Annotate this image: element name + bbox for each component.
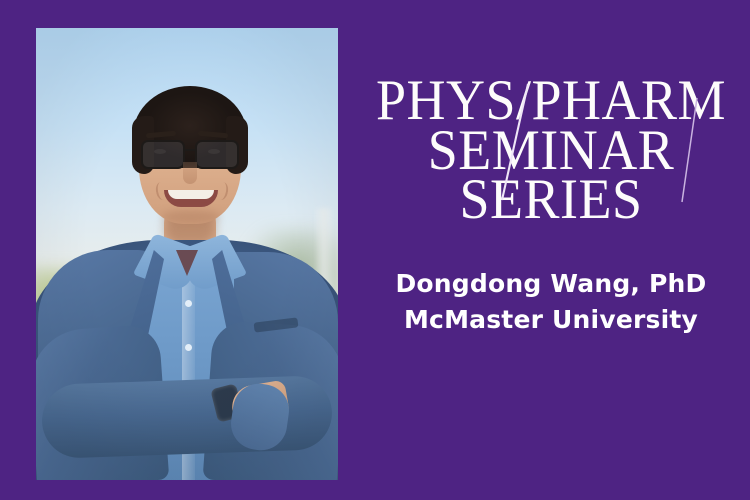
- crossed-forearms: [41, 375, 333, 459]
- person-figure: [36, 28, 338, 480]
- eyeglass-lens-right: [195, 140, 239, 169]
- shirt-button: [185, 344, 192, 351]
- speaker-name: Dongdong Wang, PhD: [352, 266, 750, 302]
- title-line-3: SERIES: [352, 174, 750, 227]
- seminar-poster: PHYS/PHARM SEMINAR SERIES Dongdong Wang,…: [0, 0, 750, 500]
- nose: [183, 162, 197, 184]
- shirt-button: [185, 300, 192, 307]
- text-panel: PHYS/PHARM SEMINAR SERIES Dongdong Wang,…: [352, 0, 750, 500]
- seminar-title: PHYS/PHARM SEMINAR SERIES: [352, 76, 750, 225]
- eyeglass-lens-left: [141, 140, 185, 169]
- speaker-info: Dongdong Wang, PhD McMaster University: [352, 266, 750, 337]
- speaker-photo: [36, 28, 338, 480]
- speaker-affiliation: McMaster University: [352, 302, 750, 338]
- mouth: [164, 190, 218, 207]
- chin-shadow: [162, 210, 220, 224]
- speaker-photo-image: [36, 28, 338, 480]
- teeth: [168, 190, 214, 199]
